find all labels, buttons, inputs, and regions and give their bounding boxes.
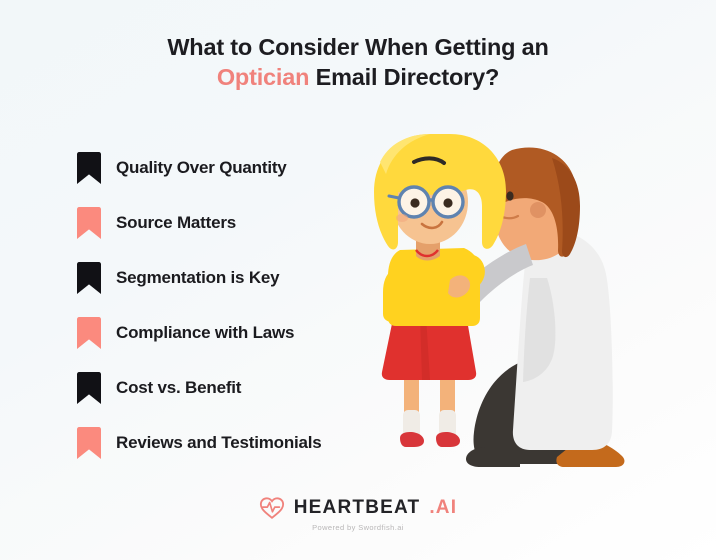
- infographic-canvas: What to Consider When Getting an Opticia…: [0, 0, 716, 560]
- child-shoe-right: [436, 432, 460, 447]
- bookmark-icon: [76, 316, 102, 350]
- bookmark-icon: [76, 426, 102, 460]
- child-eye-left: [410, 198, 419, 207]
- list-item-label: Segmentation is Key: [116, 268, 279, 288]
- child-cheek: [396, 214, 408, 222]
- title-line-1: What to Consider When Getting an: [0, 32, 716, 62]
- child-shoe-left: [400, 432, 424, 447]
- doctor-rear-shoe: [466, 447, 520, 467]
- heartbeat-heart-icon: [259, 496, 285, 520]
- child-arm-left: [383, 270, 400, 322]
- brand-name: HEARTBEAT: [294, 497, 421, 519]
- list-item-label: Cost vs. Benefit: [116, 378, 241, 398]
- title-line-2-rest: Email Directory?: [309, 64, 499, 90]
- list-item-label: Source Matters: [116, 213, 236, 233]
- bookmark-icon: [76, 261, 102, 295]
- optician-illustration: [330, 110, 700, 480]
- powered-by-text: Powered by Swordfish.ai: [312, 523, 404, 532]
- list-item-label: Quality Over Quantity: [116, 158, 287, 178]
- list-item-label: Reviews and Testimonials: [116, 433, 322, 453]
- title-line-2: Optician Email Directory?: [0, 62, 716, 92]
- child-eye-right: [443, 198, 452, 207]
- page-title: What to Consider When Getting an Opticia…: [0, 32, 716, 92]
- title-accent-word: Optician: [217, 64, 309, 90]
- brand-suffix: .AI: [429, 497, 457, 519]
- logo-row[interactable]: HEARTBEAT .AI: [259, 496, 457, 520]
- footer-logo: HEARTBEAT .AI Powered by Swordfish.ai: [0, 496, 716, 532]
- bookmark-icon: [76, 206, 102, 240]
- doctor-ear: [530, 202, 546, 218]
- bookmark-icon: [76, 371, 102, 405]
- list-item-label: Compliance with Laws: [116, 323, 294, 343]
- bookmark-icon: [76, 151, 102, 185]
- doctor-eye: [506, 191, 513, 200]
- child-glasses-temple: [389, 196, 399, 198]
